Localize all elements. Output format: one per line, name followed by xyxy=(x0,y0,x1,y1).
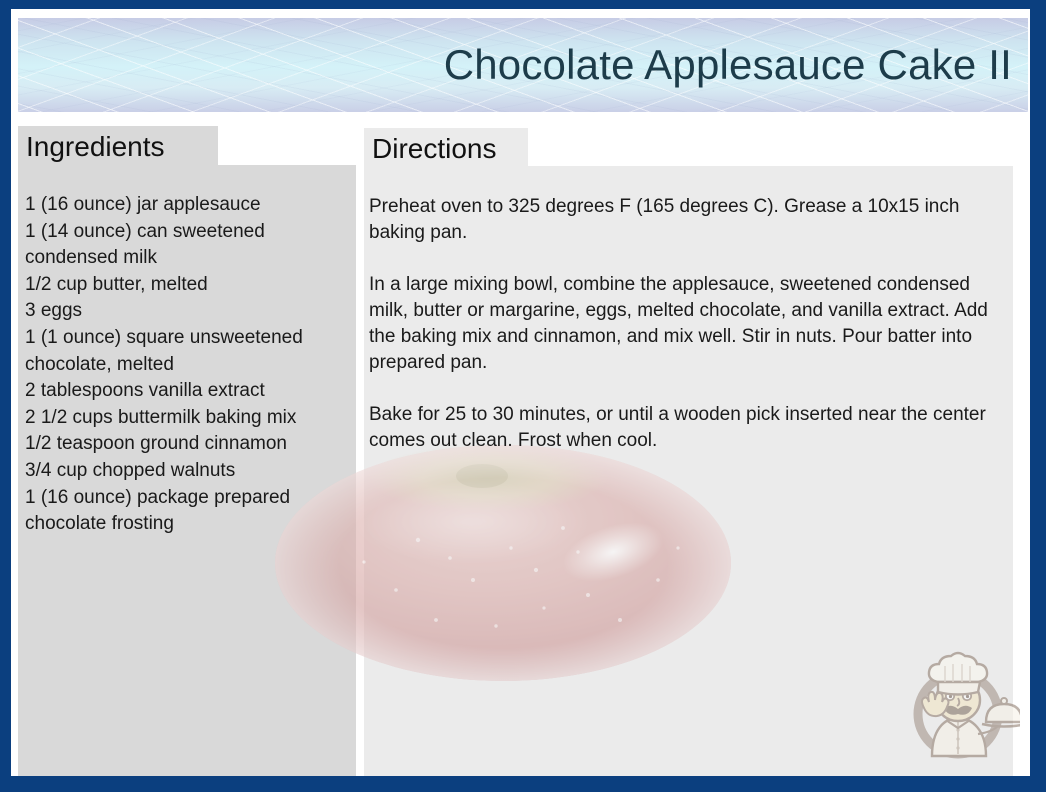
frame-border-bottom xyxy=(0,776,1046,792)
title-banner: Chocolate Applesauce Cake II xyxy=(18,18,1028,112)
directions-heading: Directions xyxy=(364,135,496,163)
frame-border-top xyxy=(0,0,1046,9)
list-item: 2 1/2 cups buttermilk baking mix xyxy=(25,405,347,432)
list-item: 1 (16 ounce) jar applesauce xyxy=(25,192,347,219)
directions-paragraph: Preheat oven to 325 degrees F (165 degre… xyxy=(369,194,1009,246)
directions-header-tab: Directions xyxy=(364,128,528,170)
directions-paragraph: Bake for 25 to 30 minutes, or until a wo… xyxy=(369,402,1009,454)
recipe-slide: Chocolate Applesauce Cake II Ingredients… xyxy=(0,0,1046,792)
list-item: 1 (14 ounce) can sweetened condensed mil… xyxy=(25,219,347,272)
ingredients-heading: Ingredients xyxy=(18,133,165,161)
directions-paragraph: In a large mixing bowl, combine the appl… xyxy=(369,272,1009,376)
directions-text: Preheat oven to 325 degrees F (165 degre… xyxy=(369,194,1009,454)
frame-border-right xyxy=(1030,0,1046,792)
ingredients-list: 1 (16 ounce) jar applesauce 1 (14 ounce)… xyxy=(25,192,347,538)
list-item: 3/4 cup chopped walnuts xyxy=(25,458,347,485)
page-title: Chocolate Applesauce Cake II xyxy=(444,43,1012,87)
frame-border-left xyxy=(0,0,11,792)
list-item: 1/2 cup butter, melted xyxy=(25,272,347,299)
list-item: 1 (1 ounce) square unsweetened chocolate… xyxy=(25,325,347,378)
list-item: 1/2 teaspoon ground cinnamon xyxy=(25,431,347,458)
list-item: 3 eggs xyxy=(25,298,347,325)
list-item: 2 tablespoons vanilla extract xyxy=(25,378,347,405)
list-item: 1 (16 ounce) package prepared chocolate … xyxy=(25,485,347,538)
ingredients-header-tab: Ingredients xyxy=(18,126,218,168)
